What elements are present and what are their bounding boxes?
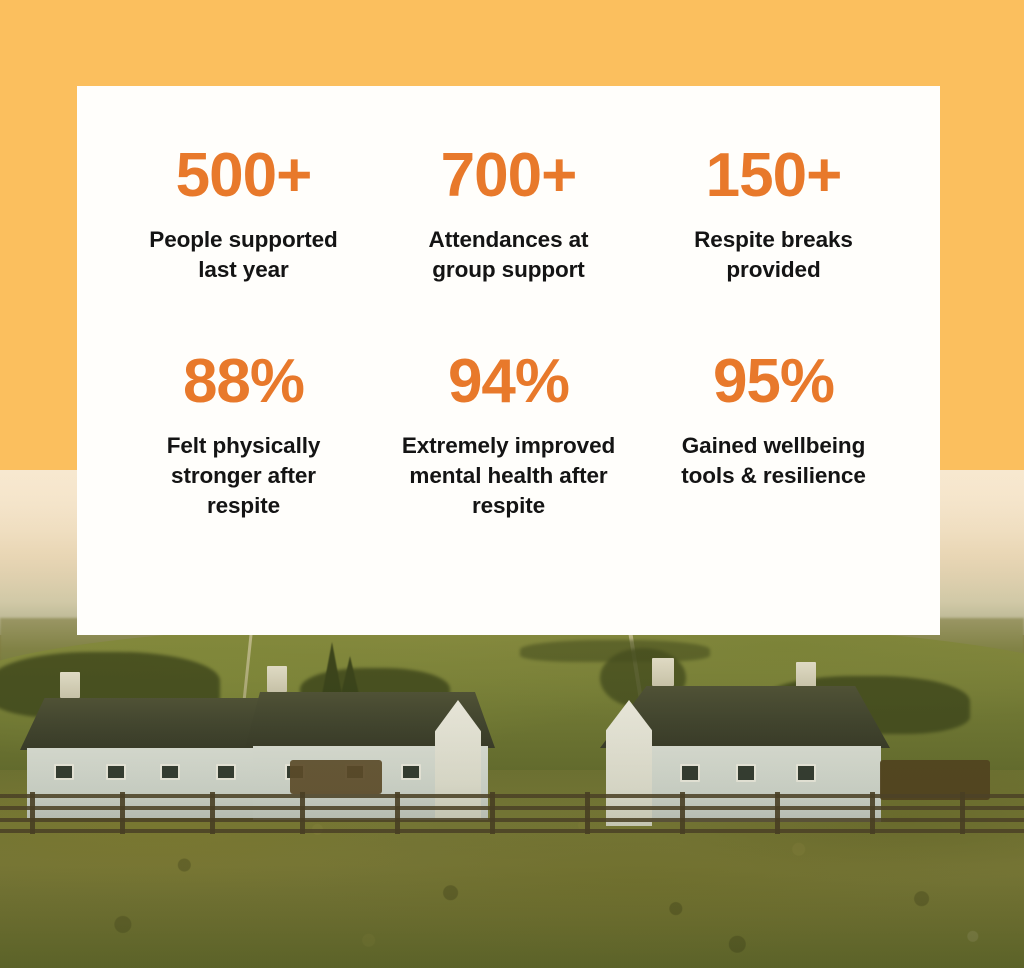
fence-post (870, 792, 875, 834)
stat-felt-physically-stronger: 88% Felt physically stronger after respi… (111, 336, 376, 522)
cottage-window (401, 764, 421, 780)
fence-post (775, 792, 780, 834)
stat-people-supported: 500+ People supported last year (111, 144, 376, 286)
stat-label-line: respite (390, 491, 627, 521)
cottage-window (680, 764, 700, 782)
stat-improved-mental-health: 94% Extremely improved mental health aft… (376, 336, 641, 522)
fence-post (960, 792, 965, 834)
cottage-window (106, 764, 126, 780)
stat-label-line: respite (125, 491, 362, 521)
stat-label: People supported last year (125, 225, 362, 285)
stat-label-line: provided (655, 255, 892, 285)
infographic-page: 500+ People supported last year 700+ Att… (0, 0, 1024, 968)
cottage-window (216, 764, 236, 780)
stat-label-line: Respite breaks (655, 225, 892, 255)
stat-number: 95% (655, 350, 892, 413)
stat-label: Felt physically stronger after respite (125, 431, 362, 521)
stat-label: Extremely improved mental health after r… (390, 431, 627, 521)
stat-label-line: stronger after (125, 461, 362, 491)
stat-label-line: last year (125, 255, 362, 285)
stat-label-line: tools & resilience (655, 461, 892, 491)
fence-post (120, 792, 125, 834)
outbuilding-barn (290, 760, 382, 794)
fence-line (0, 792, 1024, 834)
cottage-window (160, 764, 180, 780)
stat-label-line: Gained wellbeing (655, 431, 892, 461)
stat-label: Respite breaks provided (655, 225, 892, 285)
fence-post (680, 792, 685, 834)
chimney (267, 666, 287, 692)
stat-label-line: Attendances at (390, 225, 627, 255)
stat-number: 500+ (125, 144, 362, 207)
fence-post (210, 792, 215, 834)
stat-label-line: group support (390, 255, 627, 285)
stat-number: 150+ (655, 144, 892, 207)
stat-gained-wellbeing-tools: 95% Gained wellbeing tools & resilience (641, 336, 906, 522)
fence-post (585, 792, 590, 834)
chimney (652, 658, 674, 686)
stats-grid: 500+ People supported last year 700+ Att… (111, 144, 906, 521)
fence-post (30, 792, 35, 834)
fence-post (490, 792, 495, 834)
stat-number: 700+ (390, 144, 627, 207)
cottage-window (54, 764, 74, 780)
stat-number: 88% (125, 350, 362, 413)
chimney (60, 672, 80, 698)
cottage-window (736, 764, 756, 782)
cottage-roof (20, 698, 265, 750)
cottage-window (796, 764, 816, 782)
stats-card: 500+ People supported last year 700+ Att… (77, 86, 940, 635)
stat-label-line: Felt physically (125, 431, 362, 461)
stat-label: Gained wellbeing tools & resilience (655, 431, 892, 491)
stat-label-line: mental health after (390, 461, 627, 491)
stat-respite-breaks: 150+ Respite breaks provided (641, 144, 906, 286)
chimney (796, 662, 816, 688)
stat-number: 94% (390, 350, 627, 413)
fence-post (300, 792, 305, 834)
fence-post (395, 792, 400, 834)
stat-label: Attendances at group support (390, 225, 627, 285)
stat-label-line: Extremely improved (390, 431, 627, 461)
stat-attendances-group-support: 700+ Attendances at group support (376, 144, 641, 286)
stat-label-line: People supported (125, 225, 362, 255)
